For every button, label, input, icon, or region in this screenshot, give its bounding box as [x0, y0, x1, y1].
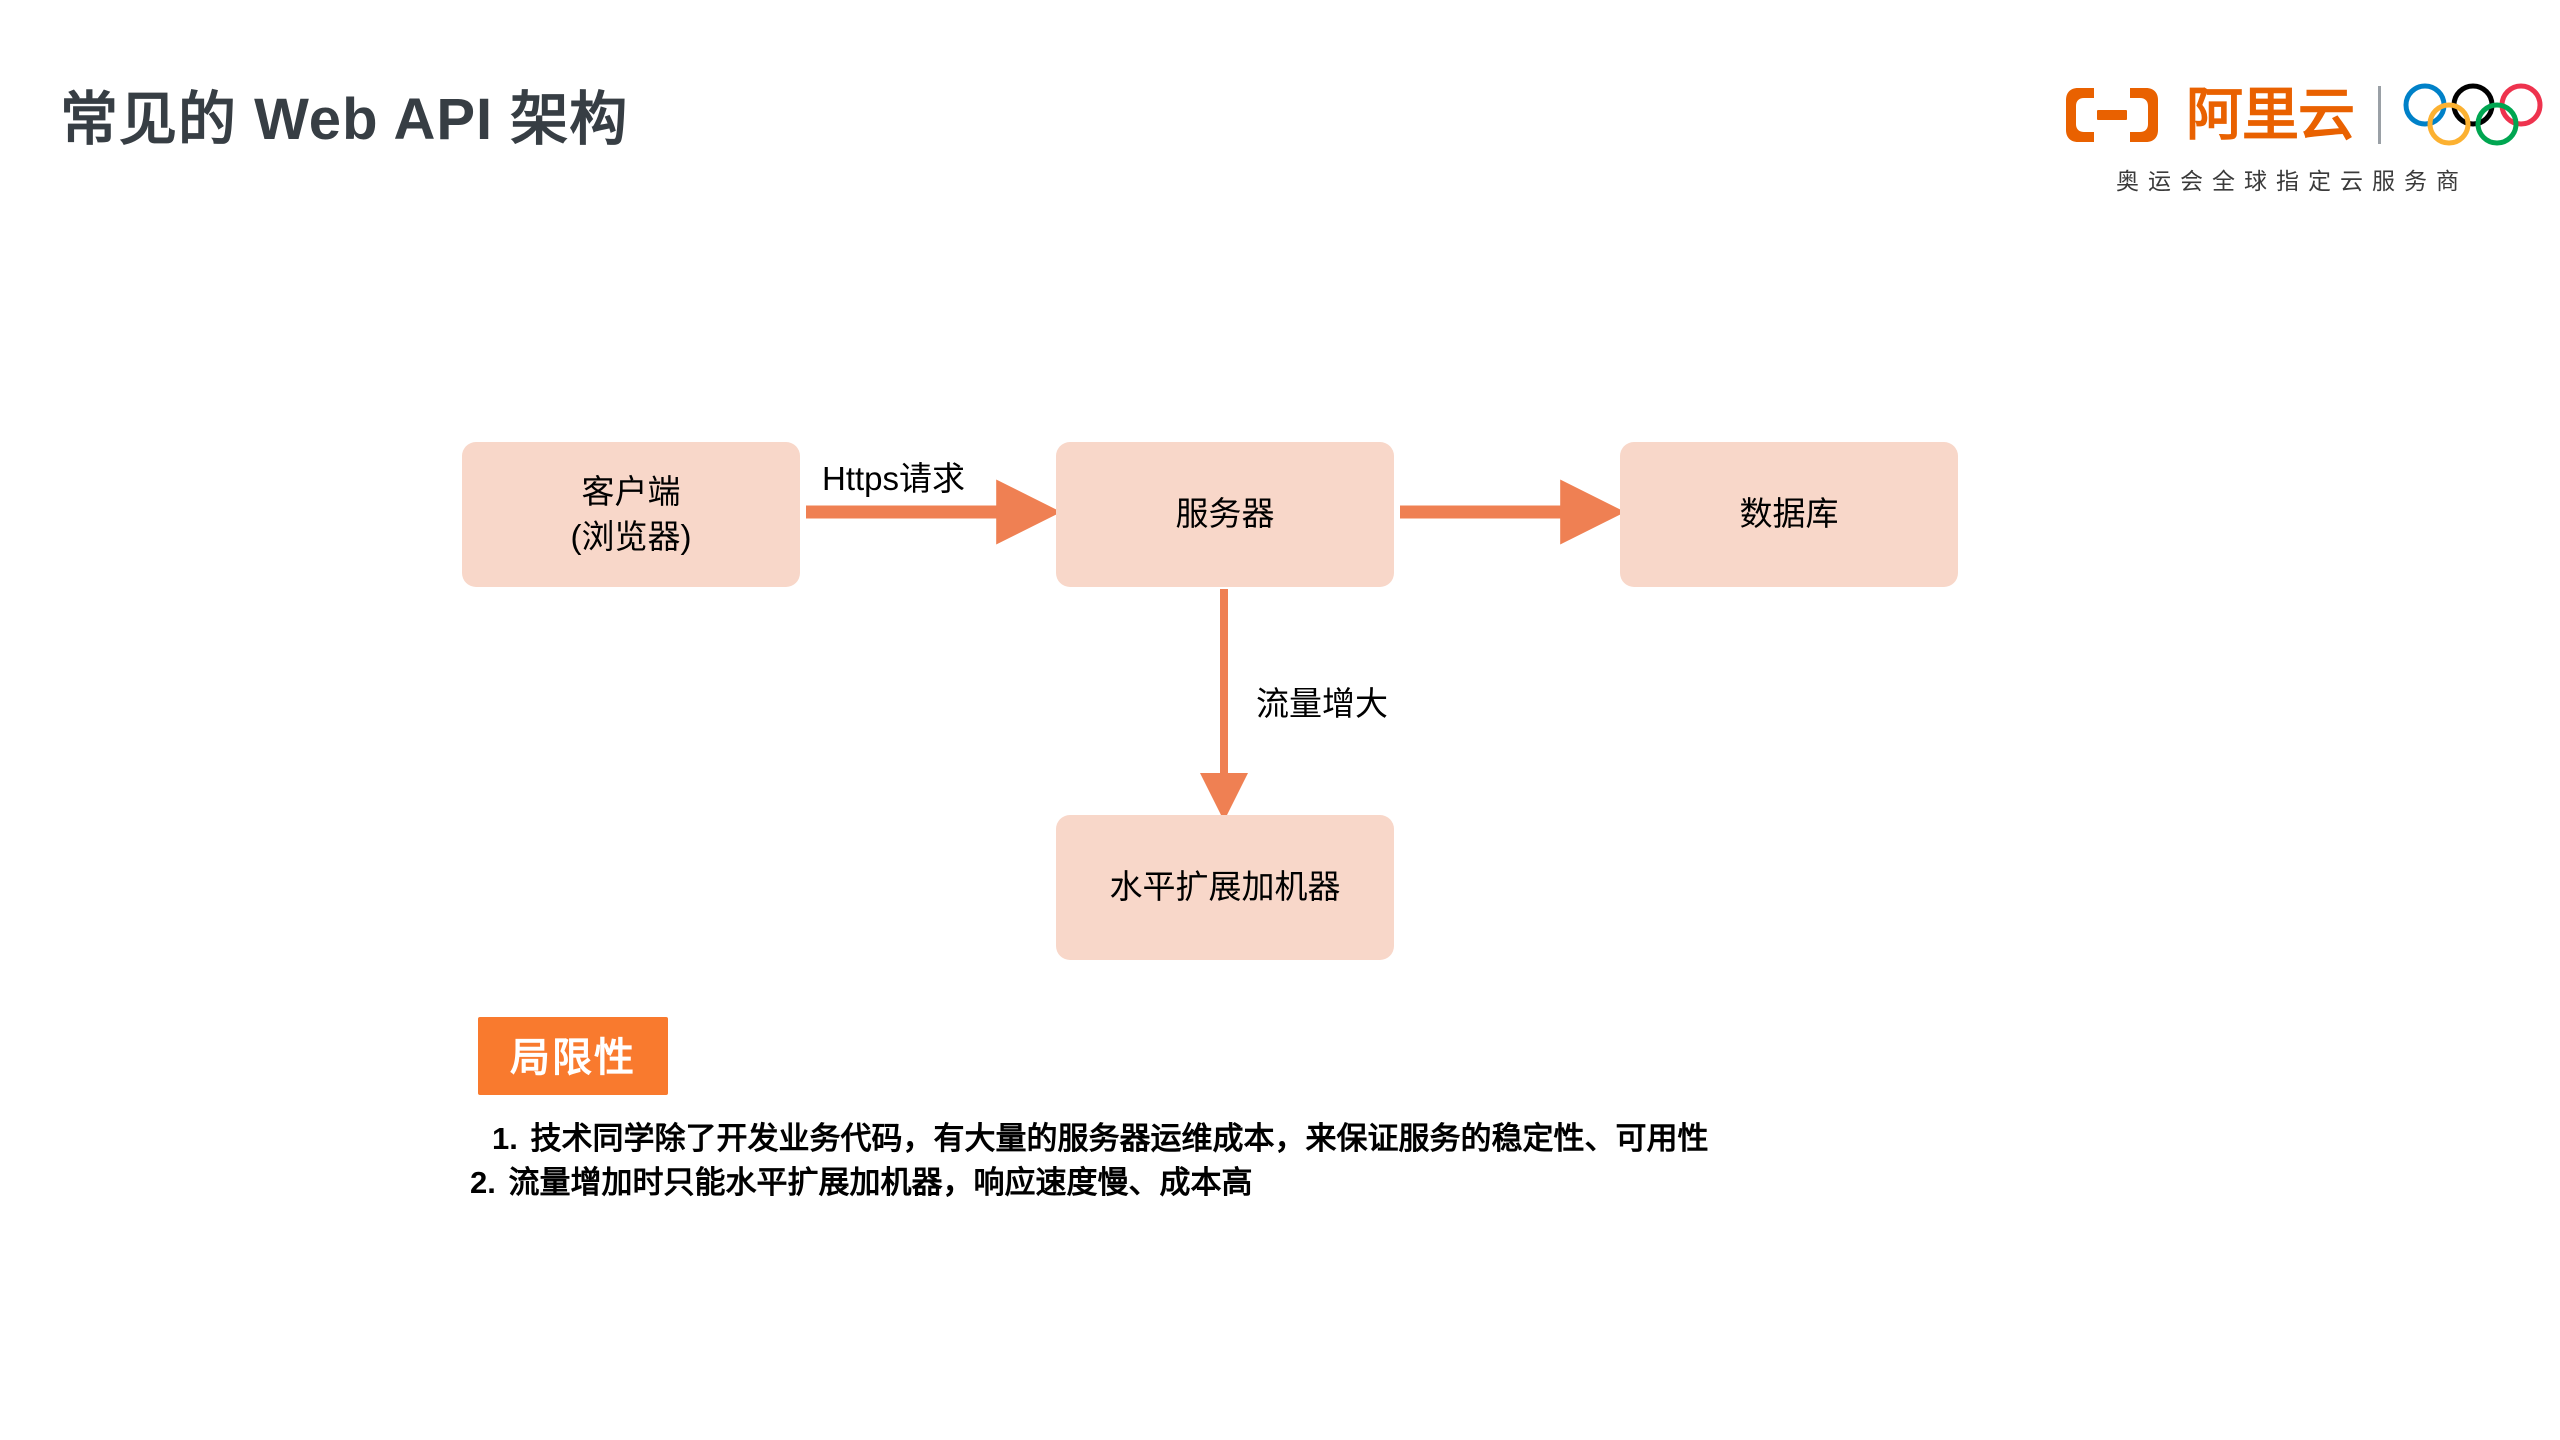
brand-row: 阿里云 [2064, 78, 2512, 152]
list-item-text: 流量增加时只能水平扩展加机器，响应速度慢、成本高 [508, 1165, 1252, 1200]
node-client-line1: 客户端 [571, 470, 692, 514]
list-item-text: 技术同学除了开发业务代码，有大量的服务器运维成本，来保证服务的稳定性、可用性 [530, 1121, 1708, 1156]
brand-lockup: 阿里云 奥运会全球指定云服务商 [2064, 78, 2512, 218]
diagram-node-client[interactable]: 客户端 (浏览器) [462, 442, 800, 587]
page-title: 常见的 Web API 架构 [60, 72, 628, 156]
brand-tagline: 奥运会全球指定云服务商 [2064, 162, 2512, 196]
edge-label-https-request: Https请求 [822, 452, 965, 500]
list-item: 2. 流量增加时只能水平扩展加机器，响应速度慢、成本高 [470, 1164, 2170, 1202]
brand-divider [2378, 86, 2381, 144]
limitations-badge: 局限性 [478, 1017, 668, 1095]
list-item: 1. 技术同学除了开发业务代码，有大量的服务器运维成本，来保证服务的稳定性、可用… [470, 1120, 2170, 1158]
brand-wordmark: 阿里云 [2186, 87, 2354, 144]
olympic-rings-icon [2403, 80, 2543, 150]
limitations-list: 1. 技术同学除了开发业务代码，有大量的服务器运维成本，来保证服务的稳定性、可用… [470, 1120, 2170, 1208]
node-database-label: 数据库 [1740, 492, 1839, 536]
node-server-label: 服务器 [1176, 492, 1275, 536]
node-client-line2: (浏览器) [571, 515, 692, 559]
list-item-marker: 1. [492, 1121, 518, 1156]
list-item-marker: 2. [470, 1165, 496, 1200]
node-scale-label: 水平扩展加机器 [1110, 865, 1341, 909]
diagram-node-server[interactable]: 服务器 [1056, 442, 1394, 587]
edge-label-traffic-growth: 流量增大 [1256, 677, 1388, 725]
alibaba-cloud-logo-mark-icon [2064, 84, 2184, 146]
diagram-node-horizontal-scaling[interactable]: 水平扩展加机器 [1056, 815, 1394, 960]
diagram-node-database[interactable]: 数据库 [1620, 442, 1958, 587]
